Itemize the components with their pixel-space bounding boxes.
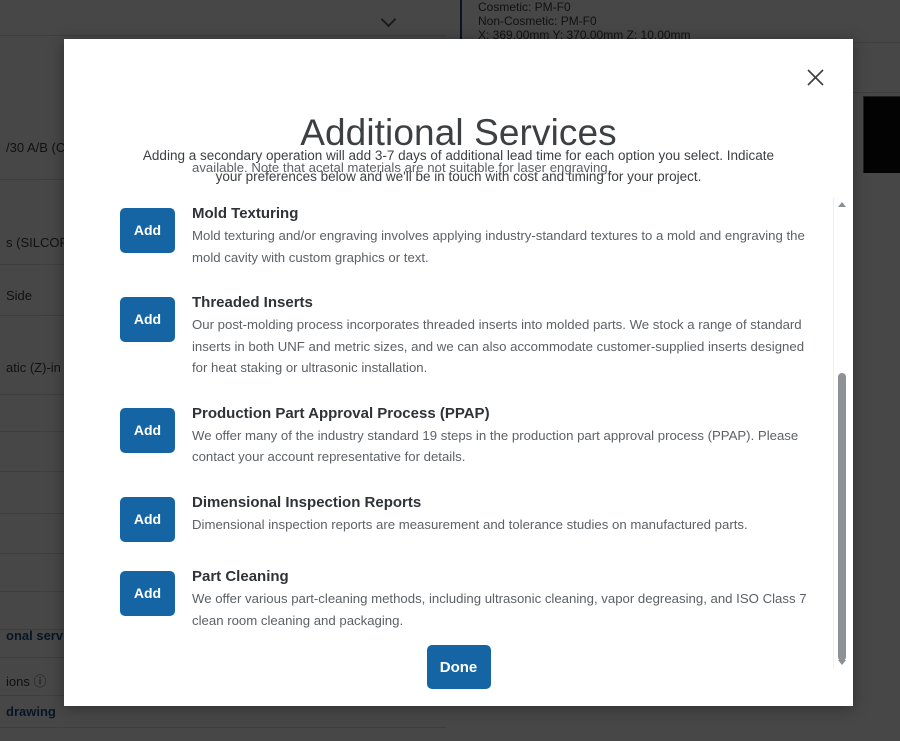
add-service-button[interactable]: Add: [120, 497, 175, 542]
service-title: Part Cleaning: [192, 567, 817, 587]
close-icon[interactable]: [801, 63, 829, 91]
services-scroll-area: AddLaser EngravingLaser engraving allows…: [120, 158, 833, 628]
add-service-button[interactable]: Add: [120, 571, 175, 616]
service-description: Mold texturing and/or engraving involves…: [192, 225, 817, 268]
service-text: Dimensional Inspection ReportsDimensiona…: [192, 493, 817, 536]
service-item: AddLaser EngravingLaser engraving allows…: [120, 158, 817, 191]
scroll-up-arrow-icon[interactable]: [834, 197, 850, 211]
additional-services-modal: Additional Services Adding a secondary o…: [64, 39, 853, 706]
service-item: AddMold TexturingMold texturing and/or e…: [120, 191, 817, 280]
scroll-down-arrow-icon[interactable]: [834, 655, 850, 669]
service-item: AddProduction Part Approval Process (PPA…: [120, 391, 817, 480]
service-text: Laser EngravingLaser engraving allows fo…: [192, 158, 817, 179]
modal-footer: Done: [64, 628, 853, 706]
service-title: Mold Texturing: [192, 204, 817, 224]
service-title: Dimensional Inspection Reports: [192, 493, 817, 513]
service-description: We offer various part-cleaning methods, …: [192, 588, 817, 628]
service-item: AddThreaded InsertsOur post-molding proc…: [120, 280, 817, 391]
service-item: AddDimensional Inspection ReportsDimensi…: [120, 480, 817, 554]
service-description: Our post-molding process incorporates th…: [192, 314, 817, 378]
service-title: Production Part Approval Process (PPAP): [192, 404, 817, 424]
add-service-button[interactable]: Add: [120, 408, 175, 453]
service-item: AddPart CleaningWe offer various part-cl…: [120, 554, 817, 628]
service-title: Threaded Inserts: [192, 293, 817, 313]
scrollbar-thumb[interactable]: [838, 373, 846, 661]
service-description: Dimensional inspection reports are measu…: [192, 514, 817, 535]
service-text: Part CleaningWe offer various part-clean…: [192, 567, 817, 628]
add-service-button[interactable]: Add: [120, 208, 175, 253]
done-button[interactable]: Done: [427, 645, 491, 689]
service-text: Threaded InsertsOur post-molding process…: [192, 293, 817, 379]
service-text: Mold TexturingMold texturing and/or engr…: [192, 204, 817, 268]
services-list: AddLaser EngravingLaser engraving allows…: [120, 158, 817, 628]
add-service-button[interactable]: Add: [120, 297, 175, 342]
service-description: Laser engraving allows for the direct ap…: [192, 158, 817, 179]
service-description: We offer many of the industry standard 1…: [192, 425, 817, 468]
service-text: Production Part Approval Process (PPAP)W…: [192, 404, 817, 468]
scrollbar[interactable]: [833, 197, 849, 669]
